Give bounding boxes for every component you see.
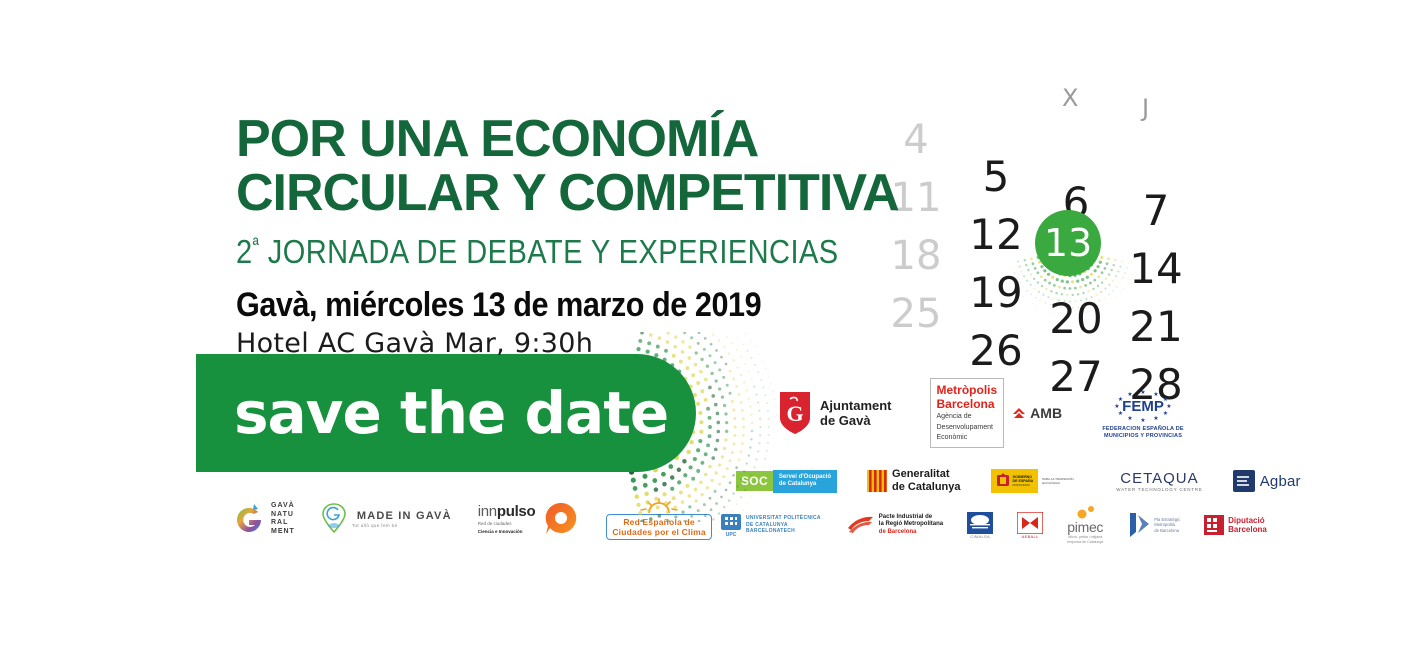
innpulso-icon — [542, 500, 580, 538]
event-venue: Hotel AC Gavà Mar, 9:30h — [236, 328, 976, 360]
gava-naturalment-line-1: GAVÀ — [271, 502, 295, 511]
weekday-header-j: J — [1142, 94, 1149, 122]
calendar-day: 14 — [1120, 248, 1192, 290]
generalitat-line-1: Generalitat — [892, 468, 960, 481]
upc-mark: UPC — [726, 532, 737, 537]
logo-generalitat-de-catalunya: Generalitat de Catalunya — [867, 468, 960, 494]
weekday-header-x: X — [1062, 84, 1078, 112]
metropolis-title-2: Barcelona — [937, 397, 998, 411]
generalitat-label: Generalitat de Catalunya — [892, 468, 960, 494]
femp-line-1: FEDERACION ESPAÑOLA DE — [1102, 426, 1183, 433]
logo-barcelona-activa: Pla Estratègic Metropolità de Barcelona — [1127, 511, 1180, 539]
ajuntament-line-2: de Gavà — [820, 413, 892, 428]
subtitle-text: JORNADA DE DEBATE Y EXPERIENCIAS — [259, 233, 838, 270]
logo-pimec: pimec Micro, petita i mitjana empresa de… — [1067, 505, 1103, 545]
aeball-icon — [1017, 512, 1043, 534]
escudo-icon — [996, 473, 1010, 489]
logo-row-1: G Ajuntament de Gavà Metròpolis Barcelon… — [778, 382, 1186, 444]
gobierno-label: GOBIERNO DE ESPAÑA MINISTERIO — [1013, 475, 1034, 488]
logo-cimalsa: CIMALSA — [967, 512, 993, 539]
logo-gobierno-de-espana: GOBIERNO DE ESPAÑA MINISTERIO PARA LA TR… — [991, 469, 1087, 493]
made-in-gava-title: MADE IN GAVÀ — [357, 510, 452, 522]
diputacio-line-1: Diputació — [1228, 516, 1267, 526]
innpulso-sub-2: Ciencia e Innovación — [478, 529, 536, 535]
pimec-icon — [1070, 505, 1100, 519]
svg-text:★: ★ — [1153, 415, 1158, 422]
logo-innpulso: innpulso Red de ciudades Ciencia e Innov… — [478, 500, 581, 538]
clima-line-2: Ciudades por el Clima — [612, 527, 705, 537]
headline-line-2: CIRCULAR Y COMPETITIVA — [236, 166, 976, 220]
logo-row-3: UPC UNIVERSITAT POLITÈCNICA DE CATALUNYA… — [720, 508, 1267, 542]
headline-block: POR UNA ECONOMÍA CIRCULAR Y COMPETITIVA … — [236, 112, 976, 360]
cetaqua-title: CETAQUA — [1120, 471, 1198, 487]
amb-label: AMB — [1030, 405, 1062, 421]
made-in-gava-label: MADE IN GAVÀ Tot allò que fem bé — [352, 510, 452, 528]
metropolis-box: Metròpolis Barcelona Agència de Desenvol… — [930, 378, 1005, 448]
pacte-line-1: Pacte Industrial de — [879, 514, 943, 522]
save-the-date-label: save the date — [234, 379, 668, 447]
ministerio-label: PARA LA TRANSICIÓN ECOLÓGICA — [1042, 477, 1086, 485]
calendar-day: 21 — [1120, 306, 1192, 348]
svg-text:★: ★ — [1114, 403, 1119, 410]
logo-agbar: Agbar — [1233, 470, 1301, 492]
metropolis-title-1: Metròpolis — [937, 383, 998, 397]
diputacio-label: Diputació Barcelona — [1228, 516, 1267, 535]
logo-made-in-gava: MADE IN GAVÀ Tot allò que fem bé — [321, 502, 452, 536]
pimec-label: pimec — [1067, 519, 1103, 535]
logo-femp: ★★★★★★★★★★★★ FEMP FEDERACION ESPAÑOLA DE… — [1100, 386, 1186, 440]
subtitle-ordinal: 2 — [236, 233, 253, 270]
generalitat-line-2: de Catalunya — [892, 481, 960, 494]
innpulso-title: innpulso — [478, 504, 536, 519]
gava-naturalment-line-3: RAL — [271, 519, 295, 528]
logo-gava-naturalment: GAVÀ NATU RAL MENT — [232, 502, 295, 536]
highlighted-day-badge: 13 — [1035, 210, 1101, 276]
calendar-day: 20 — [1040, 298, 1112, 340]
logo-ajuntament-de-gava: G Ajuntament de Gavà — [778, 390, 892, 436]
pacte-line-3: de Barcelona — [879, 529, 943, 537]
innpulso-title-light: inn — [478, 503, 497, 520]
ajuntament-label: Ajuntament de Gavà — [820, 398, 892, 428]
upc-line-3: BARCELONATECH — [746, 528, 821, 535]
innpulso-title-bold: pulso — [497, 503, 536, 520]
save-the-date-banner: save the date — [196, 354, 756, 479]
pacte-label: Pacte Industrial de la Regió Metropolita… — [879, 514, 943, 537]
generalitat-shield-icon — [867, 470, 887, 492]
metropolis-sub-1: Agència de — [937, 413, 998, 422]
gava-naturalment-icon — [232, 502, 266, 536]
svg-text:★: ★ — [1127, 391, 1132, 398]
poster-canvas: X J 4 11 18 25 5 12 19 26 6 13 20 27 7 1… — [0, 0, 1416, 672]
subtitle: 2ª JORNADA DE DEBATE Y EXPERIENCIAS — [236, 228, 887, 270]
femp-line-2: MUNICIPIOS Y PROVINCIAS — [1102, 433, 1183, 440]
innpulso-wordmark: innpulso Red de ciudades Ciencia e Innov… — [478, 504, 536, 535]
svg-text:★: ★ — [1140, 389, 1145, 396]
logo-cetaqua: CETAQUA WATER TECHNOLOGY CENTRE — [1116, 471, 1203, 492]
pla-estrategic-label: Pla Estratègic Metropolità de Barcelona — [1154, 517, 1180, 534]
metropolis-sub-3: Econòmic — [937, 434, 998, 443]
logo-aeball: AEBALL — [1017, 512, 1043, 539]
metropolis-sub-2: Desenvolupament — [937, 424, 998, 433]
logo-row-2: SOC Servei d'Ocupació de Catalunya Gener… — [736, 466, 1301, 496]
event-date: Gavà, miércoles 13 de marzo de 2019 — [236, 286, 902, 324]
logo-pacte-industrial: Pacte Industrial de la Regió Metropolita… — [845, 513, 943, 537]
diputacio-icon — [1204, 515, 1224, 535]
cimalsa-label: CIMALSA — [970, 534, 990, 539]
agbar-label: Agbar — [1260, 473, 1301, 490]
made-in-gava-subtitle: Tot allò que fem bé — [352, 523, 452, 528]
logo-diputacio-barcelona: Diputació Barcelona — [1204, 515, 1267, 535]
aeball-label: AEBALL — [1022, 534, 1039, 539]
pla-line-3: de Barcelona — [1154, 528, 1180, 534]
calendar-weekday-headers: X J — [880, 72, 1200, 112]
pla-estrategic-icon — [1127, 511, 1151, 539]
cimalsa-icon — [967, 512, 993, 534]
gava-naturalment-line-2: NATU — [271, 511, 295, 520]
svg-text:★: ★ — [1127, 415, 1132, 422]
gobierno-line-3: MINISTERIO — [1013, 483, 1034, 487]
pacte-industrial-icon — [845, 513, 875, 537]
made-in-gava-icon — [321, 502, 347, 536]
cetaqua-subtitle: WATER TECHNOLOGY CENTRE — [1116, 487, 1203, 492]
gobierno-yellow-block: GOBIERNO DE ESPAÑA MINISTERIO — [991, 469, 1039, 493]
amb-icon — [1012, 406, 1026, 420]
agbar-icon — [1233, 470, 1255, 492]
save-the-date-pill: save the date — [196, 354, 696, 472]
femp-stars-icon: ★★★★★★★★★★★★ FEMP — [1100, 386, 1186, 426]
femp-label: FEDERACION ESPAÑOLA DE MUNICIPIOS Y PROV… — [1102, 426, 1183, 440]
headline-line-1: POR UNA ECONOMÍA — [236, 112, 976, 166]
femp-wordmark: FEMP — [1122, 398, 1164, 415]
svg-text:★: ★ — [1166, 403, 1171, 410]
calendar-day: 7 — [1120, 190, 1192, 232]
logo-metropolis-barcelona: Metròpolis Barcelona Agència de Desenvol… — [930, 378, 1063, 448]
diputacio-line-2: Barcelona — [1228, 525, 1267, 535]
svg-text:★: ★ — [1140, 417, 1145, 424]
gava-naturalment-line-4: MENT — [271, 528, 295, 537]
ajuntament-line-1: Ajuntament — [820, 398, 892, 413]
gava-naturalment-label: GAVÀ NATU RAL MENT — [271, 502, 295, 536]
logo-amb: AMB — [1012, 405, 1062, 421]
pimec-sub-2: empresa de Catalunya — [1067, 540, 1103, 545]
svg-text:★: ★ — [1153, 391, 1158, 398]
pacte-line-2: la Regió Metropolitana — [879, 521, 943, 529]
innpulso-sub-1: Red de ciudades — [478, 521, 536, 527]
